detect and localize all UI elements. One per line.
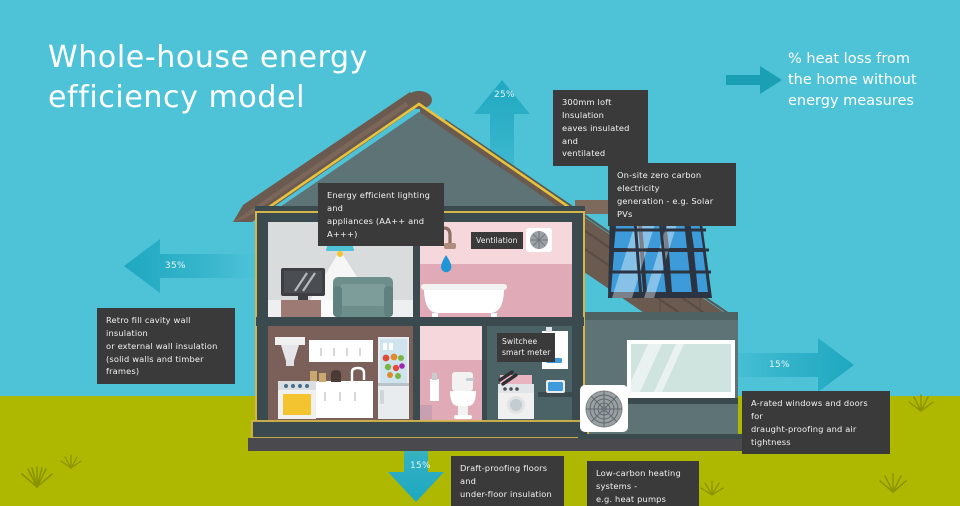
extension-window: [624, 340, 738, 404]
callout-windows-line-2: draught-proofing and air tightness: [751, 423, 882, 449]
infographic-canvas: Whole-house energy efficiency model % he…: [0, 0, 960, 506]
lamp-bulb-icon: [337, 251, 343, 257]
callout-heating-line-1: Low-carbon heating systems -: [596, 467, 691, 493]
callout-loft-insulation: 300mm loft Insulation eaves insulated an…: [553, 90, 648, 166]
callout-solar-line-1: On-site zero carbon electricity: [617, 169, 728, 195]
ventilation-label: Ventilation: [471, 232, 523, 249]
house-foundation: [252, 421, 588, 438]
foundation-lower: [248, 438, 766, 451]
smart-meter-label-line1: Switchee: [502, 336, 550, 347]
callout-walls-line-3: (solid walls and timber frames): [106, 353, 227, 379]
toilet-cistern: [452, 372, 473, 391]
smart-meter-label: Switchee smart meter: [497, 333, 555, 362]
callout-windows-line-1: A-rated windows and doors for: [751, 397, 882, 423]
callout-loft-line-1: 300mm loft Insulation: [562, 96, 640, 122]
callout-heating-line-2: e.g. heat pumps: [596, 493, 691, 506]
callout-windows-doors: A-rated windows and doors for draught-pr…: [742, 391, 890, 454]
toilet-bowl-icon: [450, 391, 476, 406]
ventilation-label-text: Ventilation: [476, 236, 518, 245]
callout-loft-line-2: eaves insulated and: [562, 122, 640, 148]
callout-floors-line-1: Draft-proofing floors and: [460, 462, 556, 488]
callout-floor-insulation: Draft-proofing floors and under-floor in…: [451, 456, 564, 506]
smart-meter-label-line2: smart meter: [502, 347, 550, 358]
callout-solar-line-2: generation - e.g. Solar PVs: [617, 195, 728, 221]
floor-divider: [256, 317, 584, 326]
bathtub-icon: [424, 288, 504, 313]
room-toilet: [420, 326, 482, 421]
room-kitchen: [268, 326, 413, 421]
callout-floors-line-2: under-floor insulation: [460, 488, 556, 501]
callout-wall-insulation: Retro fill cavity wall insulation or ext…: [97, 308, 235, 384]
callout-low-carbon-heating: Low-carbon heating systems - e.g. heat p…: [587, 461, 699, 506]
callout-lighting-appliances: Energy efficient lighting and appliances…: [318, 183, 444, 246]
tv-stand: [281, 300, 321, 317]
callout-loft-line-3: ventilated: [562, 147, 640, 160]
toilet-roll-icon: [430, 379, 439, 401]
heat-pump-unit: [580, 385, 628, 432]
callout-walls-line-2: or external wall insulation: [106, 340, 227, 353]
right-wall-base: [578, 434, 766, 439]
right-wall-shadow: [578, 312, 738, 320]
callout-lighting-line-2: appliances (AA++ and A+++): [327, 215, 436, 241]
callout-walls-line-1: Retro fill cavity wall insulation: [106, 314, 227, 340]
callout-solar-pv: On-site zero carbon electricity generati…: [608, 163, 736, 226]
callout-lighting-line-1: Energy efficient lighting and: [327, 189, 436, 215]
